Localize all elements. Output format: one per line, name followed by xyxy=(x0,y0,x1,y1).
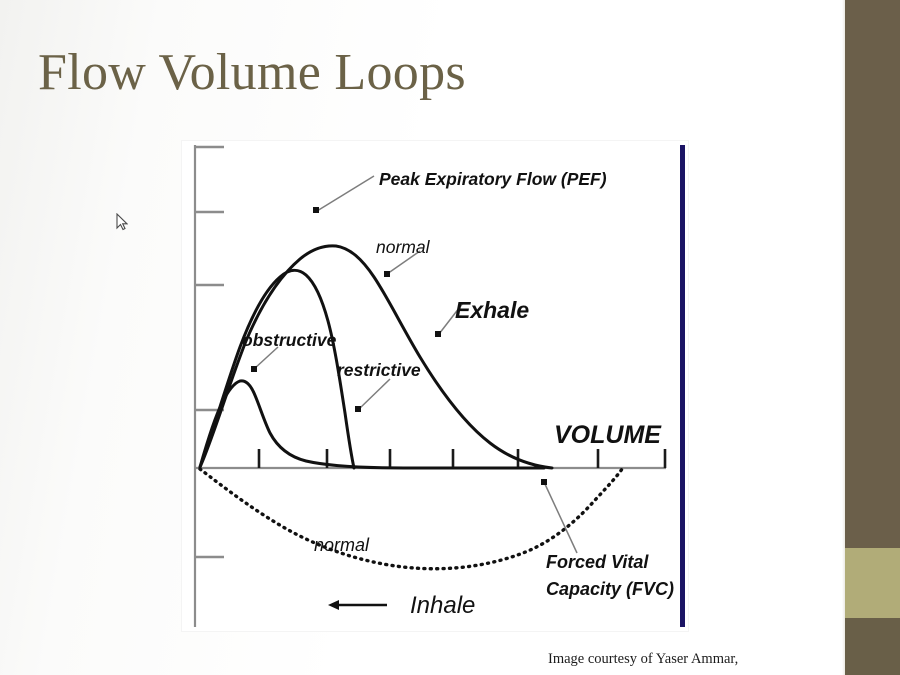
page-title: Flow Volume Loops xyxy=(38,44,466,101)
slide-canvas: Flow Volume Loops xyxy=(0,0,900,675)
mouse-cursor xyxy=(116,213,128,231)
label-fvc-line1: Forced Vital xyxy=(546,552,649,572)
figure-divider-bar xyxy=(680,145,685,627)
flow-volume-loop-figure: Peak Expiratory Flow (PEF) normal Exhale… xyxy=(182,141,688,631)
label-pef: Peak Expiratory Flow (PEF) xyxy=(379,169,607,189)
label-normal-exhale: normal xyxy=(376,237,431,257)
image-caption: Image courtesy of Yaser Ammar, xyxy=(548,651,738,668)
label-normal-inhale: normal xyxy=(314,535,370,555)
accent-bar-band xyxy=(845,548,900,618)
label-inhale: Inhale xyxy=(410,592,475,619)
label-volume-axis: VOLUME xyxy=(554,421,662,449)
label-exhale: Exhale xyxy=(455,297,529,323)
accent-bar-bottom xyxy=(845,618,900,675)
label-restrictive: restrictive xyxy=(337,360,421,380)
accent-bar-top xyxy=(845,0,900,548)
label-obstructive: obstructive xyxy=(242,330,337,350)
flow-volume-loop-svg: Peak Expiratory Flow (PEF) normal Exhale… xyxy=(182,141,688,631)
label-fvc-line2: Capacity (FVC) xyxy=(546,579,674,599)
